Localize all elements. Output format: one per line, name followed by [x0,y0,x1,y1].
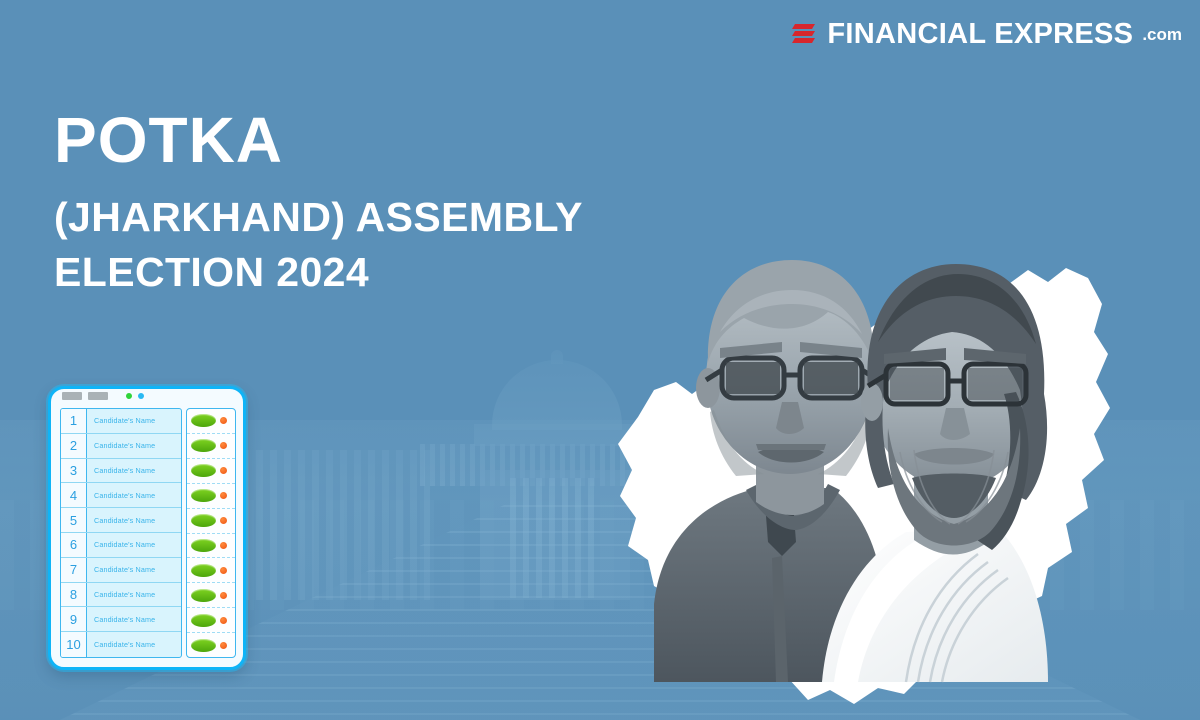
vote-button-row[interactable] [187,459,235,484]
vote-indicator-lamp-10 [220,642,227,649]
politician-portraits [596,212,1156,720]
candidate-row[interactable]: 9Candidate's Name [61,607,181,632]
candidate-row[interactable]: 4Candidate's Name [61,483,181,508]
map-and-portraits [596,212,1156,720]
vote-button-8[interactable] [191,589,216,602]
candidate-name: Candidate's Name [87,466,155,475]
evm-chip-2 [88,392,108,400]
brand-logo[interactable]: FINANCIAL EXPRESS .com [792,20,1182,49]
candidate-name: Candidate's Name [87,416,155,425]
candidate-number: 4 [61,483,87,507]
candidate-number: 1 [61,409,87,433]
vote-button-9[interactable] [191,614,216,627]
vote-indicator-lamp-2 [220,442,227,449]
vote-button-row[interactable] [187,558,235,583]
candidate-name: Candidate's Name [87,540,155,549]
brand-name: FINANCIAL EXPRESS [827,20,1133,49]
candidate-row[interactable]: 10Candidate's Name [61,632,181,657]
vote-indicator-lamp-6 [220,542,227,549]
vote-button-1[interactable] [191,414,216,427]
vote-indicator-lamp-1 [220,417,227,424]
vote-button-row[interactable] [187,534,235,559]
brand-domain-suffix: .com [1142,26,1182,43]
vote-button-row[interactable] [187,409,235,434]
candidate-row[interactable]: 8Candidate's Name [61,583,181,608]
candidate-number: 7 [61,558,87,582]
financial-express-slash-mark-icon [792,21,818,49]
vote-indicator-lamp-5 [220,517,227,524]
vote-indicator-lamp-8 [220,592,227,599]
candidate-number: 9 [61,607,87,631]
vote-button-2[interactable] [191,439,216,452]
candidate-number: 6 [61,533,87,557]
vote-button-4[interactable] [191,489,216,502]
candidate-number: 5 [61,508,87,532]
candidate-name: Candidate's Name [87,491,155,500]
candidate-row[interactable]: 2Candidate's Name [61,434,181,459]
vote-button-row[interactable] [187,583,235,608]
candidate-row[interactable]: 1Candidate's Name [61,409,181,434]
candidate-name: Candidate's Name [87,441,155,450]
candidate-number: 8 [61,583,87,607]
vote-button-7[interactable] [191,564,216,577]
candidate-name: Candidate's Name [87,640,155,649]
evm-led-blue [138,393,144,399]
candidate-row[interactable]: 7Candidate's Name [61,558,181,583]
vote-indicator-lamp-4 [220,492,227,499]
vote-indicator-lamp-3 [220,467,227,474]
vote-indicator-lamp-9 [220,617,227,624]
electronic-voting-machine[interactable]: 1Candidate's Name2Candidate's Name3Candi… [48,386,246,670]
candidate-list: 1Candidate's Name2Candidate's Name3Candi… [60,408,182,658]
candidate-row[interactable]: 5Candidate's Name [61,508,181,533]
candidate-row[interactable]: 6Candidate's Name [61,533,181,558]
vote-button-row[interactable] [187,608,235,633]
evm-led-green [126,393,132,399]
vote-button-3[interactable] [191,464,216,477]
vote-button-row[interactable] [187,434,235,459]
candidate-row[interactable]: 3Candidate's Name [61,459,181,484]
vote-button-5[interactable] [191,514,216,527]
evm-chip-1 [62,392,82,400]
vote-button-6[interactable] [191,539,216,552]
vote-button-10[interactable] [191,639,216,652]
evm-status-bar [62,392,144,400]
candidate-name: Candidate's Name [87,615,155,624]
vote-button-panel[interactable] [186,408,236,658]
vote-button-row[interactable] [187,633,235,657]
candidate-number: 3 [61,459,87,483]
constituency-name: POTKA [54,108,694,172]
vote-button-row[interactable] [187,509,235,534]
candidate-name: Candidate's Name [87,590,155,599]
vote-indicator-lamp-7 [220,567,227,574]
candidate-name: Candidate's Name [87,516,155,525]
candidate-name: Candidate's Name [87,565,155,574]
candidate-number: 2 [61,434,87,458]
vote-button-row[interactable] [187,484,235,509]
election-banner: FINANCIAL EXPRESS .com POTKA (JHARKHAND)… [0,0,1200,720]
candidate-number: 10 [61,632,87,657]
